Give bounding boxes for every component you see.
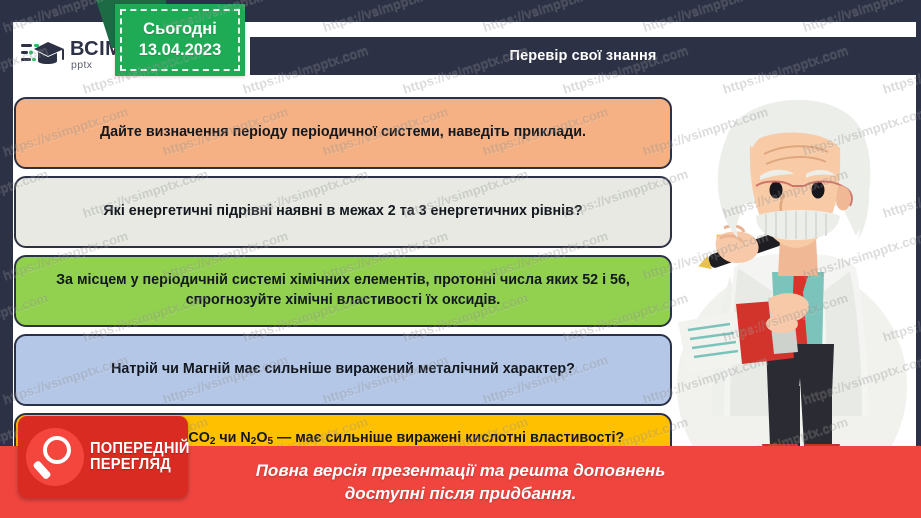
- question-text: Натрій чи Магній має сильніше виражений …: [111, 360, 575, 380]
- question-text: Які енергетичні підрівні наявні в межах …: [103, 202, 582, 222]
- page-title: Перевір свої знання: [510, 48, 657, 64]
- magnifier-icon: [26, 428, 84, 486]
- date-badge: Сьогодні 13.04.2023: [115, 4, 245, 76]
- preview-badge-line1: ПОПЕРЕДНІЙ: [90, 441, 190, 457]
- header-bar: Перевір свої знання: [250, 37, 916, 75]
- banner-line-1: Повна версія презентації та решта доповн…: [256, 461, 666, 481]
- slide-root: Перевір свої знання ВСІМ pptx Сьогодні 1…: [0, 0, 921, 518]
- question-text: За місцем у періодичній системі хімічних…: [32, 271, 654, 310]
- question-box-1: Дайте визначення періоду періодичної сис…: [14, 97, 672, 169]
- question-box-2: Які енергетичні підрівні наявні в межах …: [14, 176, 672, 248]
- scientist-character: [672, 86, 921, 481]
- banner-line-2: доступні після придбання.: [345, 484, 576, 504]
- preview-badge: ПОПЕРЕДНІЙ ПЕРЕГЛЯД: [18, 416, 188, 498]
- question-text: Дайте визначення періоду періодичної сис…: [100, 123, 586, 143]
- question-box-3: За місцем у періодичній системі хімічних…: [14, 255, 672, 327]
- graduation-cap-icon: [21, 39, 65, 71]
- date-badge-value: 13.04.2023: [139, 41, 222, 60]
- preview-badge-line2: ПЕРЕГЛЯД: [90, 457, 190, 473]
- date-badge-label: Сьогодні: [143, 20, 217, 39]
- question-box-4: Натрій чи Магній має сильніше виражений …: [14, 334, 672, 406]
